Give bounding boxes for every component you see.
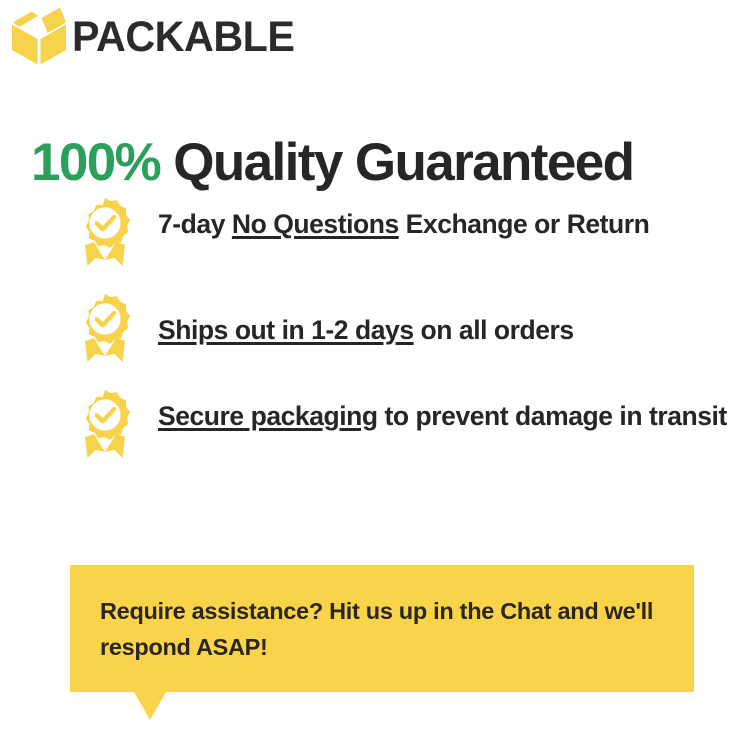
headline-highlight: 100% (31, 133, 160, 192)
quality-guarantee-banner: PACKABLE 100% Quality Guaranteed 7-day N… (0, 0, 756, 756)
list-item-text: Ships out in 1-2 days on all orders (158, 292, 734, 352)
list-item-text: Secure packaging to prevent damage in tr… (158, 388, 734, 438)
feature-tail: on all orders (414, 315, 574, 345)
award-badge-check-icon (74, 388, 136, 462)
page-title: 100% Quality Guaranteed (31, 135, 633, 191)
headline-rest: Quality Guaranteed (160, 133, 633, 192)
feature-tail: Exchange or Return (399, 209, 650, 239)
award-badge-check-icon (74, 196, 136, 270)
list-item-text: 7-day No Questions Exchange or Return (158, 196, 734, 246)
list-item: 7-day No Questions Exchange or Return (74, 196, 734, 270)
brand-logo[interactable]: PACKABLE (8, 6, 304, 68)
guarantee-feature-list: 7-day No Questions Exchange or Return Sh… (74, 196, 734, 462)
feature-emphasis: No Questions (232, 209, 399, 239)
list-item: Secure packaging to prevent damage in tr… (74, 388, 734, 462)
feature-tail: to prevent damage in transit (378, 401, 727, 431)
feature-emphasis: Ships out in 1-2 days (158, 315, 414, 345)
chat-support-callout[interactable]: Require assistance? Hit us up in the Cha… (70, 565, 694, 692)
award-badge-check-icon (74, 292, 136, 366)
package-box-icon (8, 6, 70, 68)
brand-wordmark: PACKABLE (72, 16, 294, 59)
list-item: Ships out in 1-2 days on all orders (74, 292, 734, 366)
feature-lead: 7-day (158, 209, 232, 239)
feature-emphasis: Secure packaging (158, 401, 378, 431)
speech-bubble-tail-icon (134, 692, 166, 720)
callout-text: Require assistance? Hit us up in the Cha… (70, 565, 694, 692)
